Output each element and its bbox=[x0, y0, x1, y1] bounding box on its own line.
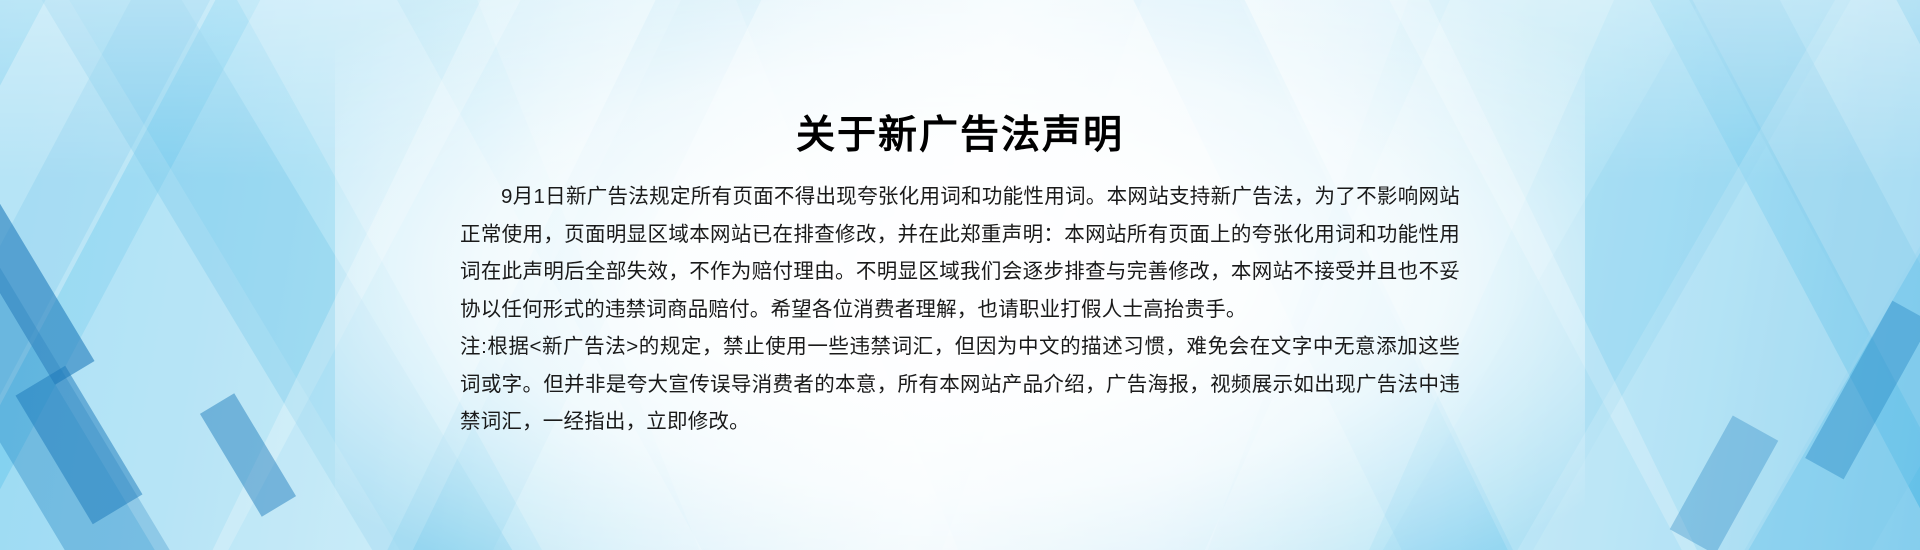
decorative-accent-wedge bbox=[1670, 416, 1779, 550]
decorative-band bbox=[1512, 0, 1920, 550]
statement-body: 9月1日新广告法规定所有页面不得出现夸张化用词和功能性用词。本网站支持新广告法，… bbox=[460, 178, 1460, 441]
statement-paragraph-note: 注:根据<新广告法>的规定，禁止使用一些违禁词汇，但因为中文的描述习惯，难免会在… bbox=[460, 328, 1460, 441]
decorative-accent-wedge bbox=[16, 366, 143, 524]
statement-content: 关于新广告法声明 9月1日新广告法规定所有页面不得出现夸张化用词和功能性用词。本… bbox=[460, 0, 1460, 550]
decorative-band bbox=[0, 0, 378, 550]
decorative-band bbox=[0, 0, 410, 550]
decorative-band bbox=[0, 0, 373, 550]
page-title: 关于新广告法声明 bbox=[460, 114, 1460, 159]
decorative-band bbox=[1538, 0, 1920, 550]
statement-paragraph-main: 9月1日新广告法规定所有页面不得出现夸张化用词和功能性用词。本网站支持新广告法，… bbox=[460, 178, 1460, 328]
decorative-accent-wedge bbox=[0, 155, 95, 384]
decorative-band bbox=[1523, 0, 1920, 550]
decorative-accent-wedge bbox=[200, 393, 296, 516]
decorative-accent-wedge bbox=[1805, 301, 1920, 480]
ad-law-statement-banner: 关于新广告法声明 9月1日新广告法规定所有页面不得出现夸张化用词和功能性用词。本… bbox=[0, 0, 1920, 550]
